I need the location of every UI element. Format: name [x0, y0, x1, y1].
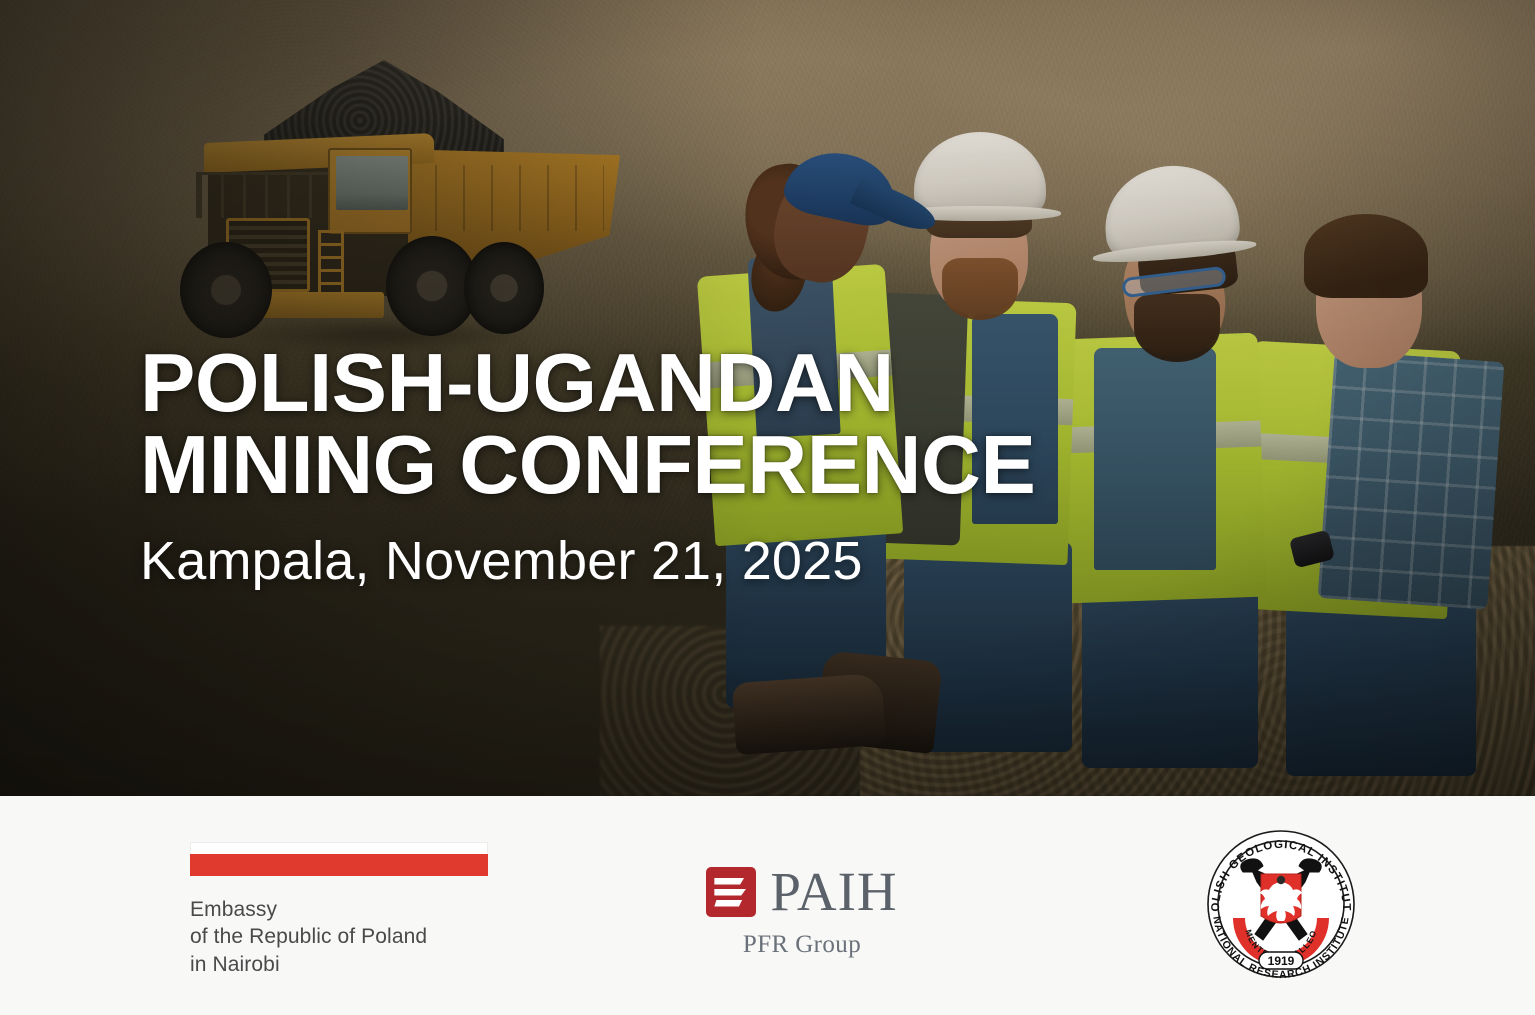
title-block: POLISH-UGANDAN MINING CONFERENCE Kampala…	[140, 342, 1140, 588]
flag-white-band	[190, 842, 488, 854]
embassy-line-2: of the Republic of Poland	[190, 923, 490, 950]
logo-embassy-of-poland: Embassy of the Republic of Poland in Nai…	[190, 842, 490, 978]
headline-line-1: POLISH-UGANDAN	[140, 342, 1140, 424]
footer-logo-bar: Embassy of the Republic of Poland in Nai…	[0, 796, 1535, 1015]
paih-stripe-3	[714, 900, 742, 907]
paih-tagline: PFR Group	[682, 931, 922, 959]
pgi-seal-icon: POLISH GEOLOGICAL INSTITUTE NATIONAL RES…	[1203, 824, 1359, 986]
eagle-crown	[1277, 876, 1285, 884]
pgi-year-text: 1919	[1268, 954, 1295, 968]
paih-mark-icon	[706, 867, 756, 917]
pgi-year-badge: 1919	[1259, 952, 1303, 969]
logo-paih: PAIH PFR Group	[682, 864, 922, 959]
paih-row: PAIH	[682, 864, 922, 919]
paih-wordmark: PAIH	[770, 864, 897, 919]
flag-red-band	[190, 854, 488, 876]
paih-stripe-1	[714, 878, 744, 885]
logo-polish-geological-institute: POLISH GEOLOGICAL INSTITUTE NATIONAL RES…	[1203, 824, 1359, 986]
footer-inner: Embassy of the Republic of Poland in Nai…	[0, 796, 1535, 1015]
conference-poster: POLISH-UGANDAN MINING CONFERENCE Kampala…	[0, 0, 1535, 1015]
polish-flag-icon	[190, 842, 488, 876]
embassy-line-3: in Nairobi	[190, 951, 490, 978]
subtitle-location-date: Kampala, November 21, 2025	[140, 534, 1140, 588]
embassy-line-1: Embassy	[190, 896, 490, 923]
embassy-text-block: Embassy of the Republic of Poland in Nai…	[190, 896, 490, 978]
headline-line-2: MINING CONFERENCE	[140, 424, 1140, 506]
paih-stripe-2	[714, 889, 746, 896]
